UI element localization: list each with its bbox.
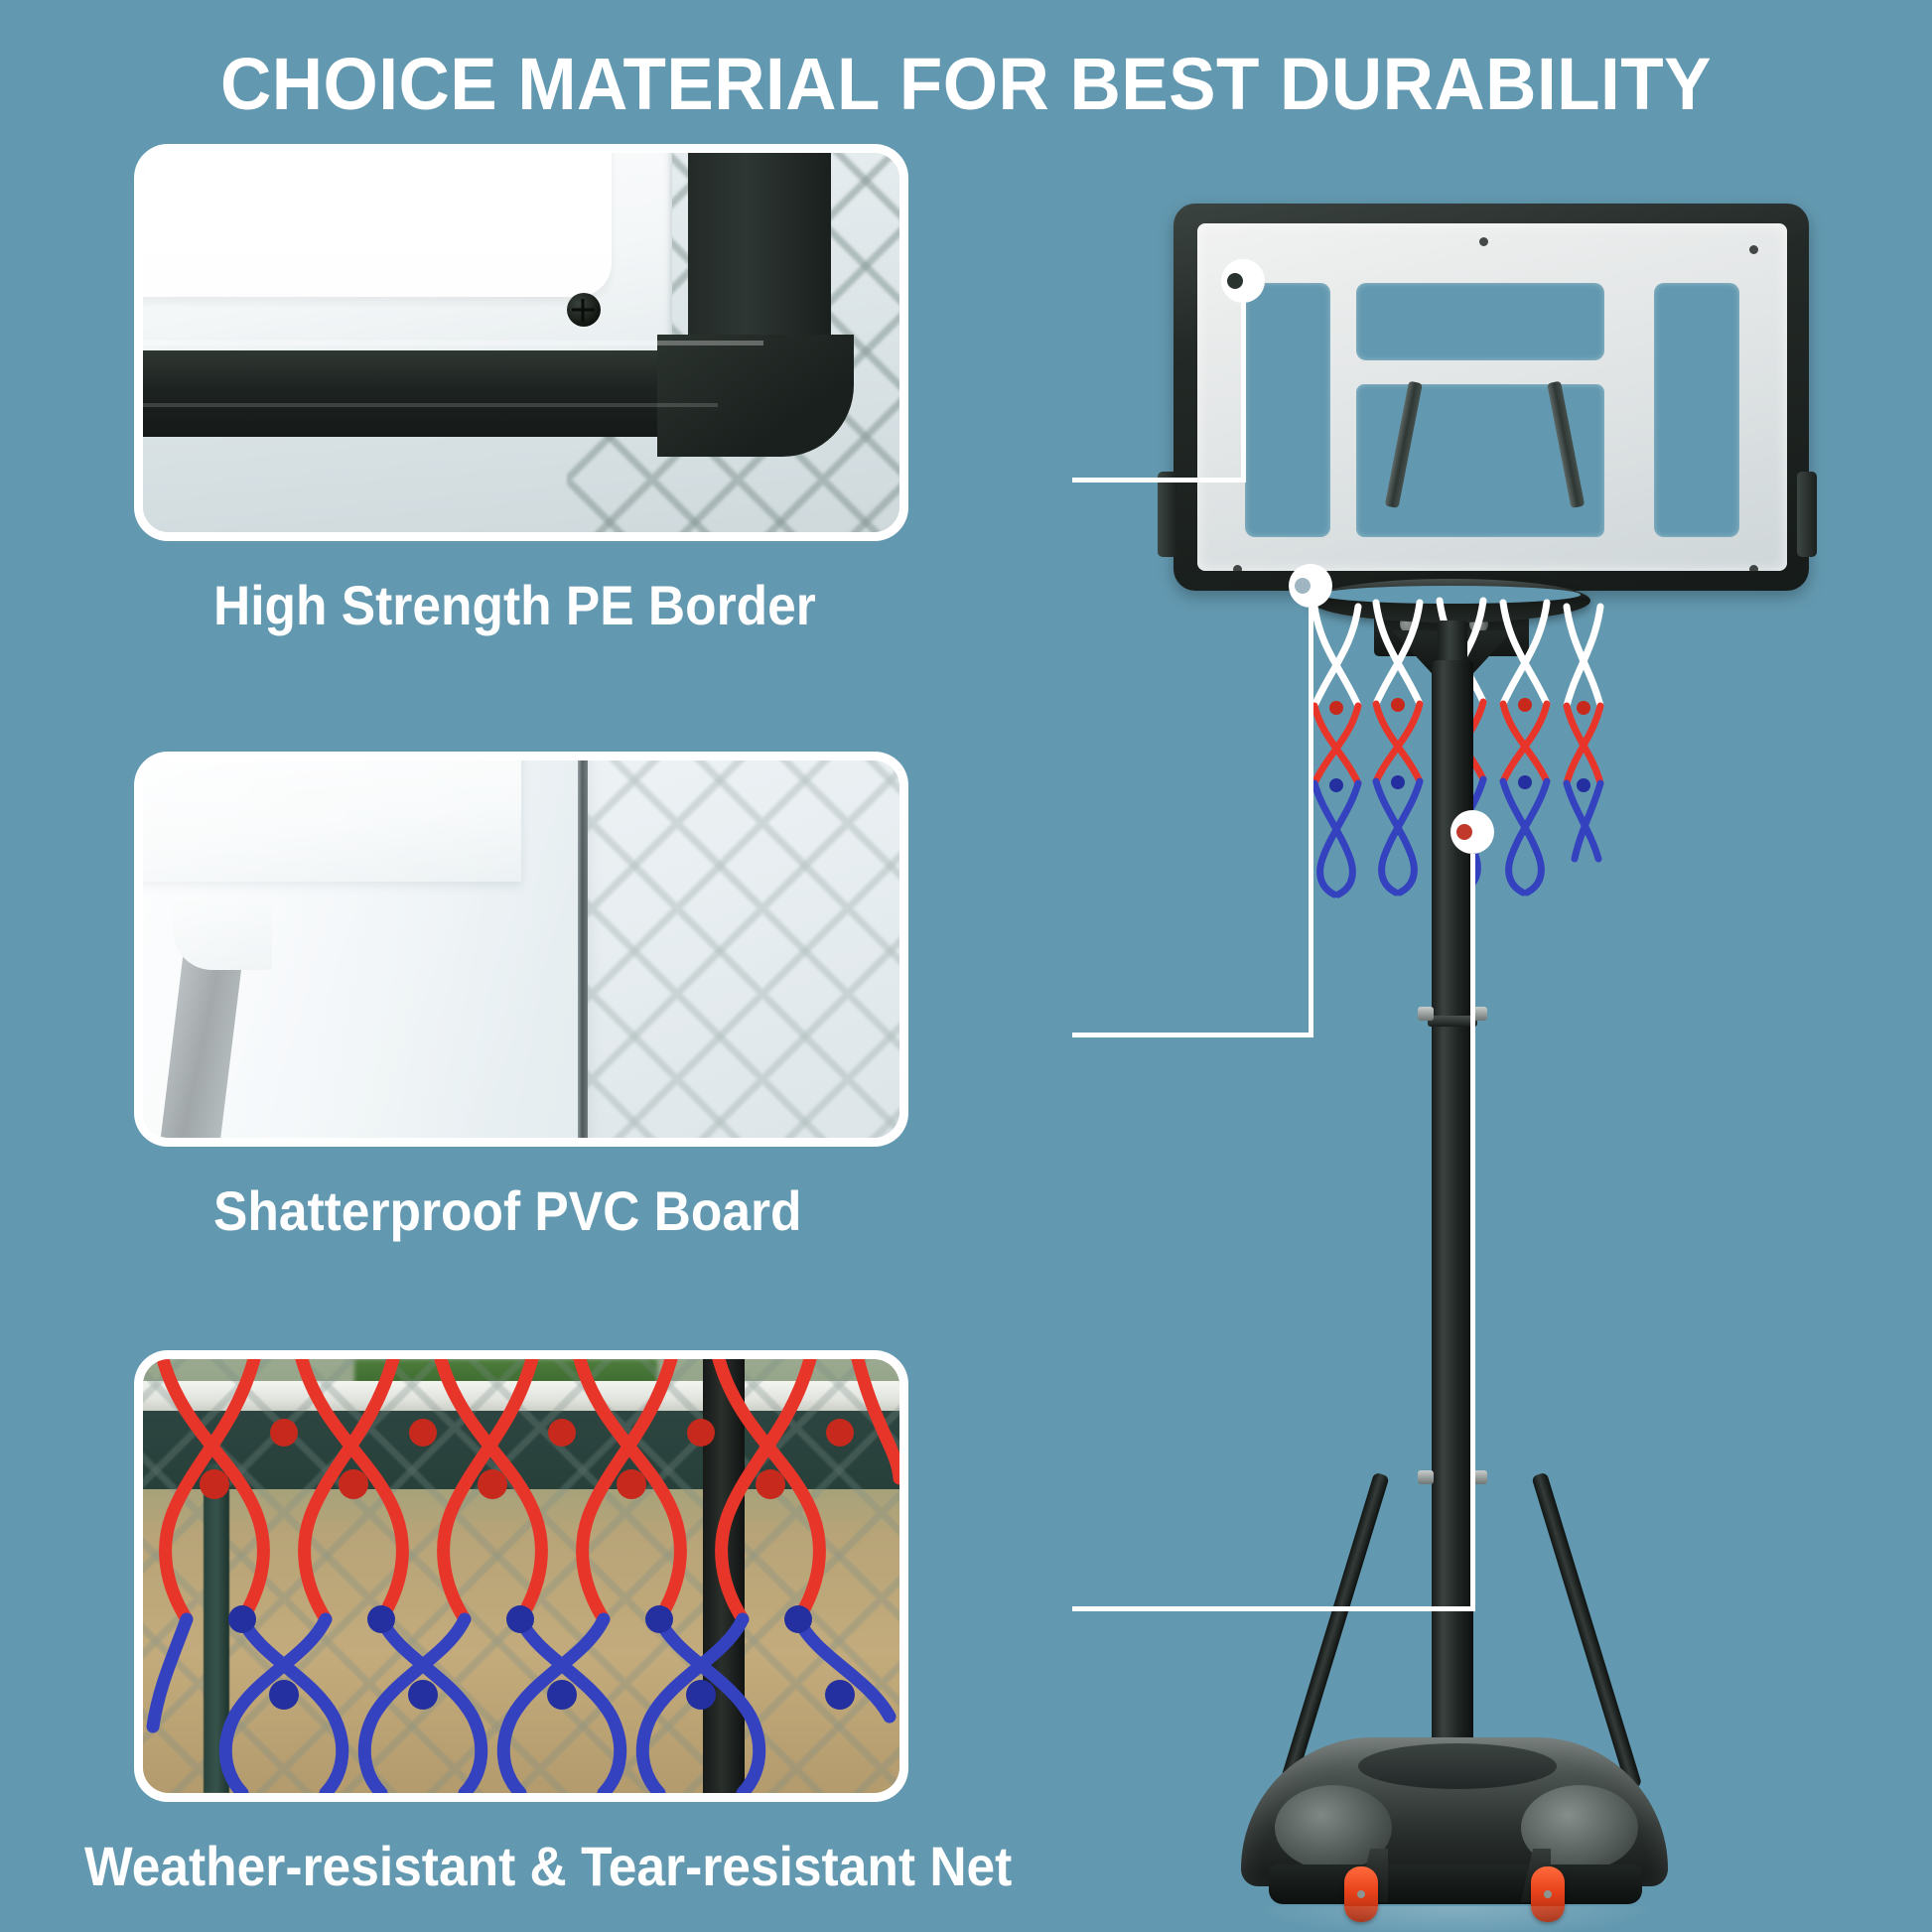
fillable-base	[1241, 1737, 1668, 1931]
leader-line-net-horizontal	[1072, 1606, 1475, 1611]
callout-dot-hole	[1227, 273, 1243, 289]
base-fill-cap	[1358, 1743, 1557, 1789]
photo-pe-border	[143, 153, 899, 532]
backboard-mount-right	[1797, 472, 1817, 557]
screw-icon	[1233, 565, 1242, 574]
page-title: CHOICE MATERIAL FOR BEST DURABILITY	[39, 42, 1893, 127]
leader-line-pvc-horizontal	[1072, 1033, 1313, 1037]
base-bottom-plate	[1269, 1864, 1642, 1904]
backboard-pvc-panel	[1197, 223, 1787, 571]
screw-icon	[567, 293, 601, 327]
leader-line-pvc-vertical	[1309, 608, 1313, 1036]
backboard-inner-highlight	[143, 153, 612, 297]
caption-net: Weather-resistant & Tear-resistant Net	[84, 1835, 1012, 1898]
callout-dot-hole	[1295, 578, 1311, 594]
product-image-basketball-hoop	[1162, 194, 1932, 1932]
strut-knob-icon	[1418, 1470, 1434, 1484]
feature-photo-pe-border	[134, 144, 908, 541]
screw-icon	[1479, 237, 1488, 246]
callout-dot-pvc-board[interactable]	[1289, 564, 1332, 608]
pe-border-highlight	[143, 341, 763, 345]
backboard-mount-left	[1158, 472, 1177, 557]
photo-net	[143, 1359, 899, 1793]
pe-border-groove	[143, 403, 718, 407]
screw-icon	[1749, 245, 1758, 254]
feature-photo-pvc-board	[134, 752, 908, 1147]
adjust-knob-icon	[1418, 1007, 1434, 1021]
leader-line-pe-border-horizontal	[1072, 478, 1246, 483]
backboard-cutout-top	[1356, 283, 1604, 360]
feature-photo-net	[134, 1350, 908, 1802]
callout-dot-pe-border[interactable]	[1221, 259, 1265, 303]
net-rope-illustration	[143, 1359, 899, 1793]
infographic-canvas: CHOICE MATERIAL FOR BEST DURABILITY High…	[0, 0, 1932, 1932]
backboard-cutout-left	[1245, 283, 1330, 537]
caption-pvc-board: Shatterproof PVC Board	[213, 1179, 802, 1243]
backboard-pe-frame	[1173, 204, 1809, 591]
pe-border-corner	[657, 335, 854, 456]
photo-pvc-board	[143, 760, 899, 1138]
caption-pe-border: High Strength PE Border	[213, 574, 816, 637]
backboard-cutout-right	[1654, 283, 1739, 537]
base-reflection	[1261, 1906, 1650, 1932]
callout-dot-net[interactable]	[1450, 810, 1494, 854]
leader-line-net-vertical	[1470, 854, 1475, 1610]
leader-line-pe-border-vertical	[1241, 298, 1246, 482]
photo-gloss-overlay	[143, 760, 899, 1138]
screw-icon	[1749, 565, 1758, 574]
callout-dot-hole	[1456, 824, 1472, 840]
